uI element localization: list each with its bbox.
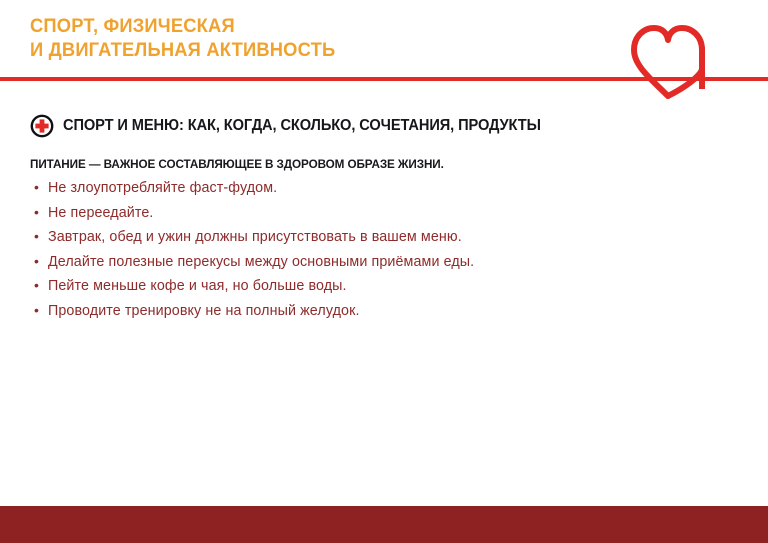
fitness-icon-row (0, 324, 768, 500)
list-item-label: Завтрак, обед и ужин должны присутствова… (48, 226, 462, 250)
slide-header: СПОРТ, ФИЗИЧЕСКАЯ И ДВИГАТЕЛЬНАЯ АКТИВНО… (0, 0, 768, 100)
list-item-label: Не злоупотребляйте фаст-фудом. (48, 177, 277, 201)
page-title: СПОРТ, ФИЗИЧЕСКАЯ И ДВИГАТЕЛЬНАЯ АКТИВНО… (30, 14, 335, 62)
heart-cross-logo (622, 18, 742, 102)
recommendation-list: •Не злоупотребляйте фаст-фудом.•Не перее… (34, 176, 674, 323)
list-item: •Делайте полезные перекусы между основны… (34, 250, 674, 275)
list-item: •Завтрак, обед и ужин должны присутствов… (34, 225, 674, 250)
section-title-label: СПОРТ И МЕНЮ: КАК, КОГДА, СКОЛЬКО, СОЧЕТ… (63, 117, 541, 135)
slide-root: СПОРТ, ФИЗИЧЕСКАЯ И ДВИГАТЕЛЬНАЯ АКТИВНО… (0, 0, 768, 543)
list-item-label: Делайте полезные перекусы между основным… (48, 251, 474, 275)
bullet-marker-icon: • (34, 299, 48, 323)
red-cross-circle-icon (30, 114, 54, 138)
lead-paragraph: ПИТАНИЕ — ВАЖНОЕ СОСТАВЛЯЮЩЕЕ В ЗДОРОВОМ… (30, 157, 444, 171)
bullet-marker-icon: • (34, 250, 48, 274)
list-item: •Пейте меньше кофе и чая, но больше воды… (34, 274, 674, 299)
footer-bar (0, 506, 768, 543)
bullet-marker-icon: • (34, 176, 48, 200)
list-item: •Не переедайте. (34, 201, 674, 226)
bullet-marker-icon: • (34, 274, 48, 298)
bullet-marker-icon: • (34, 225, 48, 249)
section-title: СПОРТ И МЕНЮ: КАК, КОГДА, СКОЛЬКО, СОЧЕТ… (30, 113, 566, 139)
list-item: •Проводите тренировку не на полный желуд… (34, 299, 674, 324)
list-item-label: Не переедайте. (48, 202, 153, 226)
list-item-label: Проводите тренировку не на полный желудо… (48, 300, 360, 324)
list-item-label: Пейте меньше кофе и чая, но больше воды. (48, 275, 347, 299)
bullet-marker-icon: • (34, 201, 48, 225)
list-item: •Не злоупотребляйте фаст-фудом. (34, 176, 674, 201)
